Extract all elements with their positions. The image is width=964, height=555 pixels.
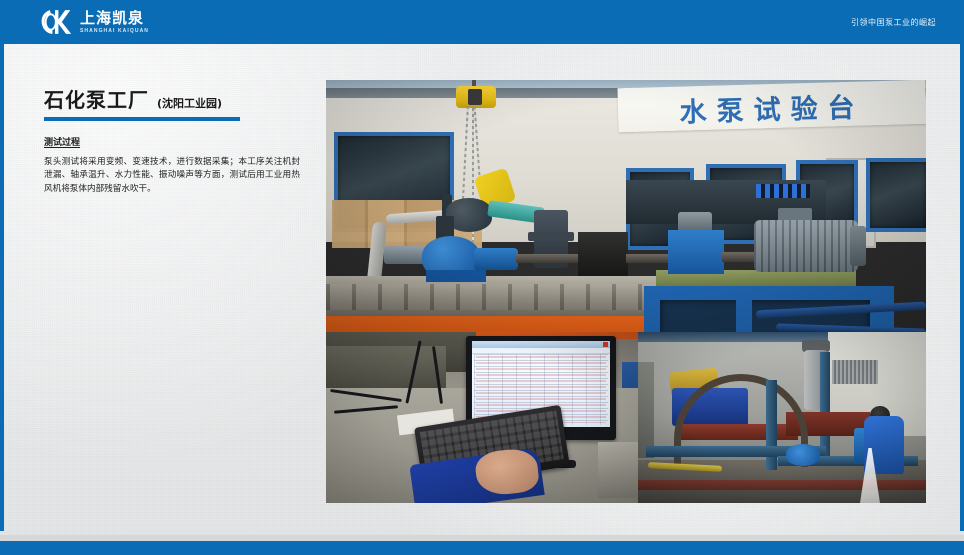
hoist-drum — [468, 89, 482, 105]
photo-collage: 水泵试验台 — [326, 80, 926, 503]
close-icon — [603, 342, 608, 347]
gearbox-cover — [678, 212, 712, 232]
logo-english-name: SHANGHAI KAIQUAN — [80, 29, 149, 34]
footer-bar — [0, 541, 964, 555]
text-column: 石化泵工厂 (沈阳工业园) 测试过程 泵头测试将采用变频、变速技术，进行数据采集… — [44, 84, 306, 196]
kaiquan-logo-icon — [38, 7, 72, 37]
drive-shaft — [722, 252, 758, 262]
photo-data-acquisition-station — [326, 332, 638, 503]
photo-pump-test-bench: 水泵试验台 — [326, 80, 926, 332]
photo-pump-skid-test — [638, 332, 926, 503]
motor-fan-cover — [850, 226, 866, 266]
blue-valve — [786, 444, 820, 466]
drive-shaft — [626, 254, 674, 263]
bench-leg — [736, 286, 752, 332]
window-pane — [866, 158, 926, 232]
title-underline-rule — [44, 117, 240, 121]
company-logo[interactable]: 上海凯泉 SHANGHAI KAIQUAN — [38, 7, 149, 37]
banner-caption-text: 水泵试验台 — [622, 84, 923, 131]
panel-indicator-lights — [756, 184, 810, 198]
heat-exchanger — [832, 360, 878, 384]
left-edge-accent — [0, 44, 4, 531]
floor-red-band — [638, 480, 926, 490]
header-bar: 上海凯泉 SHANGHAI KAIQUAN 引领中国泵工业的崛起 — [0, 0, 964, 44]
electric-motor — [754, 220, 858, 272]
torque-meter — [578, 232, 628, 276]
page-subtitle: (沈阳工业园) — [157, 95, 222, 111]
bench-leg — [644, 286, 660, 332]
header-slogan: 引领中国泵工业的崛起 — [851, 0, 936, 44]
page-title: 石化泵工厂 — [44, 84, 149, 113]
drive-shaft — [516, 254, 582, 263]
body-paragraph: 泵头测试将采用变频、变速技术，进行数据采集；本工序关注机封泄漏、轴承温升、水力性… — [44, 156, 300, 196]
presentation-slide: 上海凯泉 SHANGHAI KAIQUAN 引领中国泵工业的崛起 石化泵工厂 (… — [0, 0, 964, 555]
cast-iron-test-plate — [326, 276, 656, 318]
section-heading: 测试过程 — [44, 135, 80, 148]
valve-flange — [528, 232, 574, 241]
pump-bearing-housing — [474, 248, 518, 270]
structural-column — [638, 362, 654, 458]
right-edge-accent — [960, 44, 964, 531]
slide-title-row: 石化泵工厂 (沈阳工业园) — [44, 84, 306, 113]
pump-baseplate — [426, 270, 486, 282]
dark-equipment-block — [326, 346, 446, 388]
orange-bench-frame — [326, 316, 644, 332]
gearbox — [668, 230, 724, 274]
side-equipment — [598, 442, 638, 498]
logo-chinese-name: 上海凯泉 — [80, 11, 149, 26]
